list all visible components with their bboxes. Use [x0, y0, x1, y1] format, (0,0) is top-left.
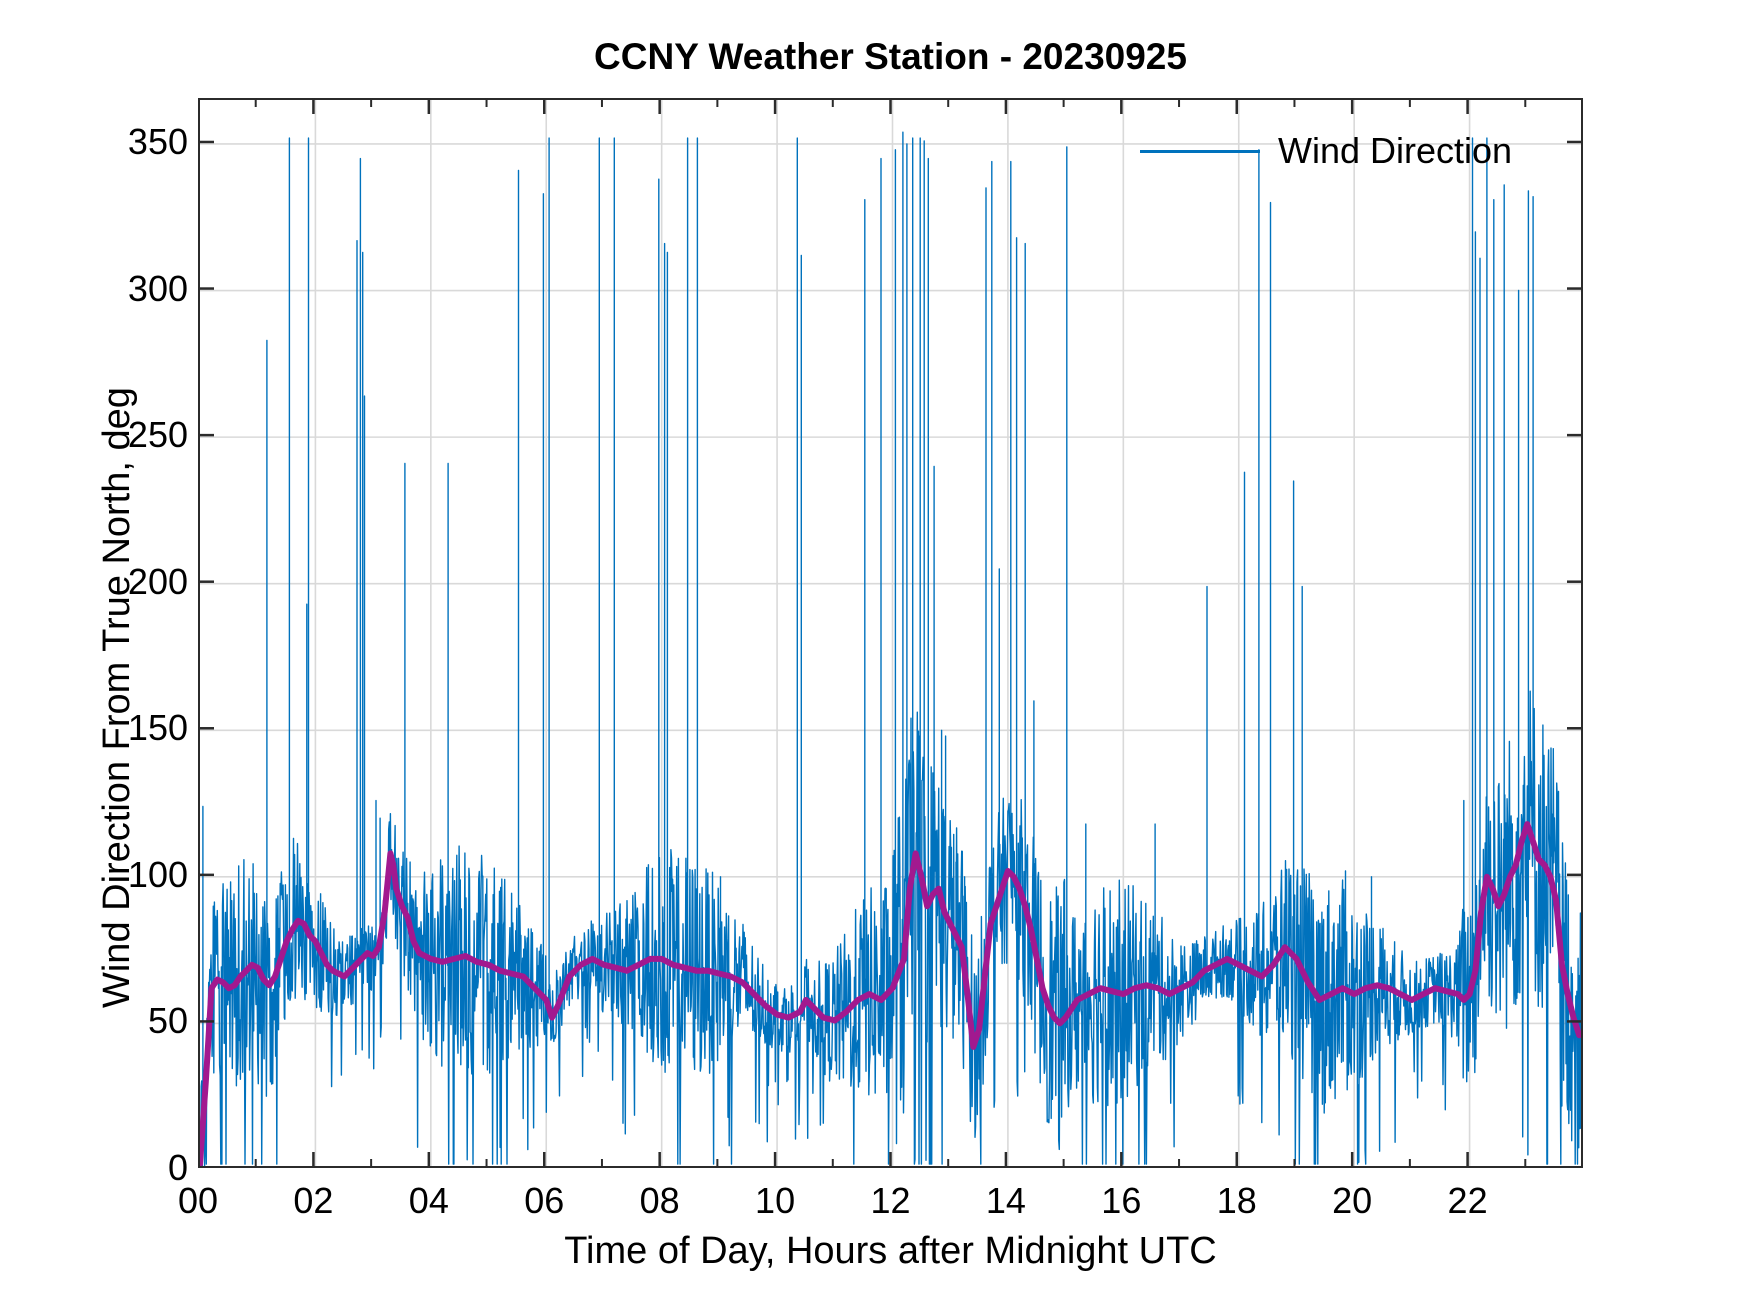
- y-axis-title: Wind Direction From True North, deg: [96, 387, 139, 1008]
- x-axis-title: Time of Day, Hours after Midnight UTC: [198, 1230, 1583, 1273]
- x-tick-label: 12: [846, 1180, 936, 1222]
- x-tick-label: 10: [730, 1180, 820, 1222]
- series-layer: [200, 100, 1581, 1166]
- x-tick-label: 22: [1423, 1180, 1513, 1222]
- legend[interactable]: Wind Direction: [1140, 120, 1570, 182]
- x-tick-label: 08: [615, 1180, 705, 1222]
- legend-label-wind-direction: Wind Direction: [1278, 130, 1512, 172]
- x-tick-label: 18: [1192, 1180, 1282, 1222]
- page-title: CCNY Weather Station - 20230925: [198, 36, 1583, 78]
- x-tick-label: 16: [1076, 1180, 1166, 1222]
- y-tick-label: 350: [58, 121, 188, 163]
- figure-canvas: CCNY Weather Station - 20230925 05010015…: [0, 0, 1750, 1313]
- x-tick-label: 06: [499, 1180, 589, 1222]
- x-tick-label: 04: [384, 1180, 474, 1222]
- legend-line-swatch-wind-direction: [1140, 150, 1260, 153]
- x-tick-label: 20: [1307, 1180, 1397, 1222]
- x-tick-label: 02: [268, 1180, 358, 1222]
- y-tick-label: 300: [58, 268, 188, 310]
- plot-area[interactable]: [198, 98, 1583, 1168]
- x-tick-label: 00: [153, 1180, 243, 1222]
- x-tick-label: 14: [961, 1180, 1051, 1222]
